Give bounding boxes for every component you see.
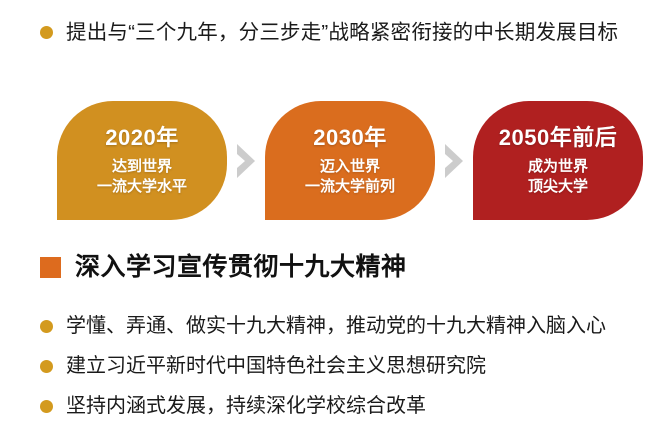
stage-description-line1: 达到世界 <box>97 157 187 177</box>
stage-year-label: 2020年 <box>105 125 178 151</box>
timeline-roadmap: 2020年 达到世界 一流大学水平 2030年 迈入世界 一流大学前列 20 <box>57 98 647 223</box>
dot-bullet-icon <box>40 360 53 373</box>
stage-description: 迈入世界 一流大学前列 <box>305 157 395 197</box>
slide-canvas: 提出与“三个九年，分三步走”战略紧密衔接的中长期发展目标 2020年 达到世界 … <box>0 0 650 424</box>
chevron-right-icon-2 <box>440 140 468 182</box>
timeline-stage-2020: 2020年 达到世界 一流大学水平 <box>57 101 227 220</box>
stage-description: 达到世界 一流大学水平 <box>97 157 187 197</box>
list-item: 建立习近平新时代中国特色社会主义思想研究院 <box>40 352 640 380</box>
section-heading: 深入学习宣传贯彻十九大精神 <box>40 252 407 282</box>
section-title-text: 深入学习宣传贯彻十九大精神 <box>75 252 407 282</box>
bullet-list: 学懂、弄通、做实十九大精神，推动党的十九大精神入脑入心 建立习近平新时代中国特色… <box>40 312 640 420</box>
stage-description-line1: 迈入世界 <box>305 157 395 177</box>
stage-description-line2: 顶尖大学 <box>528 177 588 197</box>
list-item-text: 建立习近平新时代中国特色社会主义思想研究院 <box>66 352 486 380</box>
chevron-right-icon-1 <box>232 140 260 182</box>
list-item: 学懂、弄通、做实十九大精神，推动党的十九大精神入脑入心 <box>40 312 640 340</box>
stage-description-line2: 一流大学前列 <box>305 177 395 197</box>
list-item-text: 坚持内涵式发展，持续深化学校综合改革 <box>66 392 426 420</box>
dot-bullet-icon <box>40 400 53 413</box>
headline-bullet-row: 提出与“三个九年，分三步走”战略紧密衔接的中长期发展目标 <box>40 18 640 48</box>
list-item-text: 学懂、弄通、做实十九大精神，推动党的十九大精神入脑入心 <box>66 312 606 340</box>
stage-description-line2: 一流大学水平 <box>97 177 187 197</box>
stage-year-label: 2030年 <box>313 125 386 151</box>
stage-year-label: 2050年前后 <box>499 125 617 151</box>
dot-bullet-icon <box>40 320 53 333</box>
timeline-stage-2050: 2050年前后 成为世界 顶尖大学 <box>473 101 643 220</box>
square-bullet-icon <box>40 257 61 278</box>
stage-description-line1: 成为世界 <box>528 157 588 177</box>
stage-description: 成为世界 顶尖大学 <box>528 157 588 197</box>
timeline-stage-2030: 2030年 迈入世界 一流大学前列 <box>265 101 435 220</box>
list-item: 坚持内涵式发展，持续深化学校综合改革 <box>40 392 640 420</box>
dot-bullet-icon <box>40 26 53 39</box>
headline-text: 提出与“三个九年，分三步走”战略紧密衔接的中长期发展目标 <box>66 18 618 48</box>
